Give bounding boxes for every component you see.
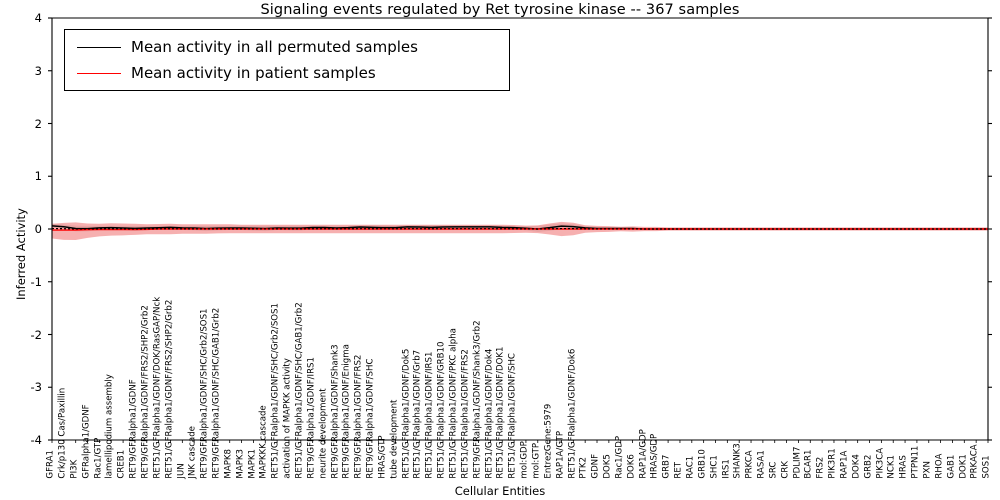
x-tick-label: RET51/GFRalpha1/GDNF/Dok4 <box>485 349 494 479</box>
x-tick-label: HRAS/GDP <box>651 434 660 479</box>
x-tick-label: GFRalpha1/GDNF <box>82 404 91 478</box>
x-tick-label: PRKCA <box>746 450 755 478</box>
x-tick-label: PIK3R1 <box>829 448 838 478</box>
x-tick-label: RET9/GFRalpha1/GDNF/SHC <box>367 359 376 479</box>
x-tick-label: GRB2 <box>864 455 873 479</box>
x-tick-label: DOK6 <box>627 454 636 479</box>
x-tick-label: SOS1 <box>983 455 992 478</box>
legend-label-permuted: Mean activity in all permuted samples <box>131 38 418 56</box>
x-tick-label: GRB10 <box>698 449 707 478</box>
x-tick-label: EntrezGene:5979 <box>544 404 553 479</box>
x-tick-label: RET9/GFRalpha1/GDNF/IRS1 <box>307 357 316 479</box>
x-tick-label: RET51/GFRalpha1/GDNF/IRS1 <box>426 352 435 479</box>
x-tick-label: PIK3CA <box>876 448 885 479</box>
x-tick-label: GAB1 <box>947 455 956 479</box>
x-tick-label: RET9/GFRalpha1/GDNF/SHC/Grb2/SOS1 <box>201 309 210 479</box>
x-tick-label: GDNF <box>592 454 601 479</box>
x-tick-label: HRAS/GTP <box>378 435 387 478</box>
x-tick-label: RET51/GFRalpha1/GDNF/SHC <box>509 353 518 479</box>
x-tick-label: GRB7 <box>663 455 672 479</box>
x-tick-label: RET51/GFRalpha1/GDNF/SHC/Grb2/SOS1 <box>272 303 281 479</box>
x-tick-label: PDLIM7 <box>793 447 802 479</box>
x-tick-label: PTK2 <box>580 457 589 479</box>
x-tick-label: MAPK3 <box>236 449 245 479</box>
x-tick-label: DOK5 <box>603 454 612 479</box>
x-tick-label: neurite development <box>319 388 328 478</box>
chart-figure: Signaling events regulated by Ret tyrosi… <box>0 0 1000 500</box>
x-tick-label: RAP1A/GTP <box>556 431 565 479</box>
x-tick-label: PTPN11 <box>912 446 921 479</box>
x-tick-label: tube development <box>390 400 399 479</box>
x-tick-label: mol:GDP <box>521 441 530 478</box>
x-tick-label: RET9/GFRalpha1/GDNF/FRS2/SHP2/Grb2 <box>141 305 150 478</box>
x-tick-label: JNK cascade <box>189 426 198 479</box>
x-tick-label: BCAR1 <box>805 450 814 479</box>
x-tick-label: RAP1A <box>840 451 849 479</box>
x-tick-label: NCK1 <box>888 455 897 479</box>
x-tick-label: RET51/GFRalpha1/GDNF/DOK/RasGAP/Nck <box>153 297 162 479</box>
x-tick-label: RET51/GFRalpha1/GDNF/DOK1 <box>497 347 506 479</box>
x-tick-label: PXN <box>923 461 932 479</box>
x-tick-label: RET51/GFRalpha1/GDNF/Dok5 <box>402 349 411 479</box>
x-tick-label: Rac1/GTP <box>94 438 103 479</box>
x-tick-label: RET51/GFRalpha1/GDNF/PKC alpha <box>449 328 458 479</box>
x-tick-label: HRAS <box>900 455 909 478</box>
x-tick-label: RET9/GFRalpha1/GDNF/Shank3/Grb2 <box>473 320 482 478</box>
legend-label-patient: Mean activity in patient samples <box>131 64 376 82</box>
x-tick-label: DOK1 <box>959 454 968 479</box>
x-tick-label: CRK <box>781 461 790 479</box>
x-tick-label: lamellipodium assembly <box>106 374 115 478</box>
x-tick-label: RASA1 <box>757 450 766 478</box>
x-tick-label: MAPK1 <box>248 449 257 479</box>
x-tick-label: RET9/GFRalpha1/GDNF/FRS2 <box>355 355 364 479</box>
x-tick-label: RET51/GFRalpha1/GDNF/FRS2/SHP2/Grb2 <box>165 300 174 479</box>
y-tick-label: 0 <box>12 222 42 236</box>
x-tick-label: RET51/GFRalpha1/GDNF/Grb7 <box>414 350 423 479</box>
x-tick-label: RET51/GFRalpha1/GDNF/FRS2 <box>461 349 470 478</box>
x-tick-label: GFRA1 <box>47 450 56 479</box>
x-tick-label: RAC1 <box>686 456 695 479</box>
x-tick-label: activation of MAPKK activity <box>284 358 293 478</box>
x-tick-label: mol:GTP <box>532 443 541 479</box>
x-tick-label: SRC <box>769 462 778 479</box>
chart-legend: Mean activity in all permuted samples Me… <box>64 29 510 91</box>
y-tick-label: 1 <box>12 169 42 183</box>
legend-swatch-patient <box>77 73 121 74</box>
legend-swatch-permuted <box>77 47 121 48</box>
x-tick-label: FRS2 <box>817 457 826 479</box>
x-tick-label: RET9/GFRalpha1/GDNF/Shank3 <box>331 344 340 478</box>
x-tick-label: RET51/GFRalpha1/GDNF/SHC/GAB1/Grb2 <box>295 302 304 478</box>
y-tick-label: 2 <box>12 117 42 131</box>
x-tick-label: SHC1 <box>710 455 719 478</box>
y-tick-label: -4 <box>12 433 42 447</box>
x-tick-label: RET <box>675 462 684 479</box>
x-tick-label: MAPK8 <box>224 449 233 479</box>
y-tick-label: -1 <box>12 275 42 289</box>
x-tick-label: IRS1 <box>722 459 731 478</box>
y-tick-label: -3 <box>12 380 42 394</box>
x-tick-label: PI3K <box>70 460 79 479</box>
x-tick-label: RET9/GFRalpha1/GDNF <box>130 379 139 478</box>
legend-entry: Mean activity in all permuted samples <box>65 34 509 60</box>
x-tick-label: DOK4 <box>852 454 861 479</box>
x-tick-label: SHANK3 <box>734 443 743 478</box>
y-tick-label: 3 <box>12 64 42 78</box>
x-tick-label: PRKACA <box>971 444 980 478</box>
confidence-band-patient-band <box>52 222 988 240</box>
x-tick-label: RHOA <box>935 454 944 479</box>
x-tick-label: MAPKKK cascade <box>260 405 269 478</box>
x-tick-label: RET51/GFRalpha1/GDNF/GRB10 <box>438 342 447 479</box>
x-tick-label: Rac1/GDP <box>615 436 624 479</box>
x-tick-label: RAP1A/GDP <box>639 429 648 478</box>
legend-entry: Mean activity in patient samples <box>65 60 509 86</box>
y-tick-label: 4 <box>12 11 42 25</box>
x-tick-label: RET51/GFRalpha1/GDNF/Dok6 <box>568 349 577 479</box>
y-tick-label: -2 <box>12 328 42 342</box>
x-tick-label: RET9/GFRalpha1/GDNF/SHC/GAB1/Grb2 <box>212 308 221 479</box>
x-tick-label: RET9/GFRalpha1/GDNF/Enigma <box>343 344 352 478</box>
x-tick-label: JUN <box>177 463 186 478</box>
x-tick-label: CREB1 <box>118 450 127 479</box>
x-tick-label: Crk/p130 Cas/Paxillin <box>58 388 67 479</box>
